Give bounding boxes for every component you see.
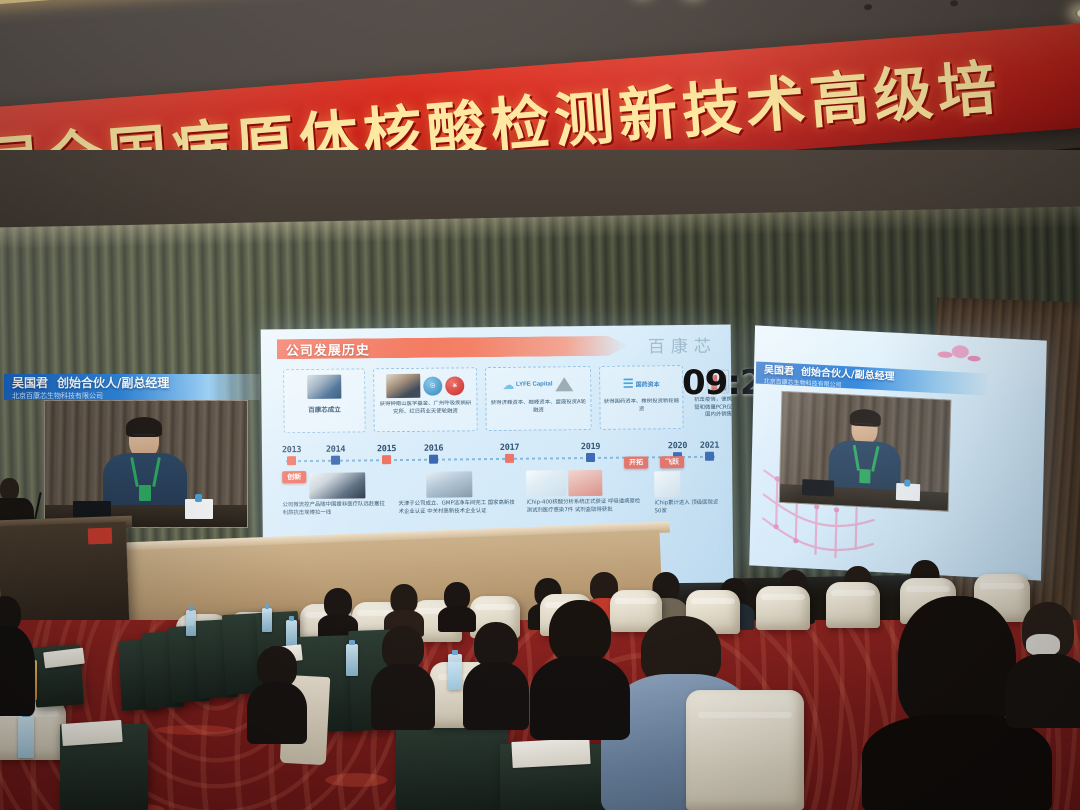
card-icons: ☰国药资本 (623, 370, 660, 396)
audience-member (0, 596, 28, 716)
timeline-marker (586, 453, 595, 462)
list-item: ☰国药资本 获得国药资本、橡树投资新轮融资 (599, 365, 684, 430)
person-head (549, 600, 611, 664)
person-head (898, 596, 1016, 728)
card-label: 百康芯成立 (308, 404, 341, 414)
cartridge-photo-icon (568, 470, 602, 496)
guoyao-capital-logo-icon: ☰国药资本 (623, 376, 660, 390)
person-shoulders (530, 656, 630, 740)
presenter-video-feed (44, 400, 248, 528)
presenter-video-feed-side (779, 391, 952, 512)
handout-paper (61, 720, 122, 746)
timeline-year: 2020 (668, 441, 687, 451)
status-badge: 开拓 (624, 456, 648, 468)
person-shoulders (1006, 654, 1080, 728)
card-text: iChip累计进入 顶级医院近50家 (654, 500, 720, 516)
conference-photo-scene: 七届全国病原体核酸检测新技术高级培 公司发展历史 百康芯 百康芯成立 ☉ (0, 0, 1080, 810)
lyfe-capital-logo-icon: ☁LYFE Capital (503, 378, 553, 392)
device-photo-icon (526, 470, 566, 496)
list-item: 百康芯成立 (283, 368, 366, 433)
audience-member (374, 626, 432, 726)
audience-member (534, 600, 626, 736)
status-badge: 飞跃 (660, 456, 684, 468)
slide-title-bar: 公司发展历史 (277, 336, 629, 360)
timeline-marker (331, 456, 340, 465)
building-photo-icon (426, 471, 472, 497)
hongri-logo-icon: ☀ (445, 376, 464, 395)
lab-photo-icon (307, 375, 341, 399)
face-mask (1026, 634, 1060, 656)
list-item: 天津子公司成立、GMP洁净车间完工 国家高新技术企业认证 中关村高新技术企业认证 (398, 469, 516, 517)
timeline-marker (705, 452, 714, 461)
timeline-marker (382, 455, 391, 464)
card-text: 获得国药资本、橡树投资新轮融资 (603, 398, 679, 414)
audience-member (466, 622, 526, 726)
water-bottle (448, 654, 462, 690)
hand-device-icon (654, 471, 680, 497)
timeline-marker (429, 455, 438, 464)
timeline-year: 2021 (700, 441, 719, 451)
table (396, 718, 508, 810)
audience-member (386, 584, 422, 630)
gloved-hand-photo-icon (309, 472, 365, 499)
presenter-nameplate: 吴国君 创始合伙人/副总经理 北京百康芯生物科技有限公司 (4, 374, 260, 400)
timeline-axis: 2013 2014 2015 2016 2017 2019 (276, 441, 722, 468)
audience-member (320, 588, 356, 632)
side-projection-screen: 吴国君 创始合伙人/副总经理 北京百康芯生物科技有限公司 (749, 325, 1047, 580)
timeline-year: 2015 (377, 444, 396, 454)
person-shoulders (247, 682, 307, 744)
audience-member (1012, 602, 1080, 722)
timeline-year: 2017 (500, 443, 519, 453)
portrait-photo-icon (386, 374, 420, 398)
list-item: ☉ ☀ 获得钟南山医学基金、广州呼吸疾病研究所、红日药业天使轮融资 (373, 367, 478, 432)
podium-sign (88, 528, 113, 545)
status-badge: 创新 (282, 471, 306, 483)
audience-member (440, 582, 474, 626)
card-text: iChip-400核酸分析系统正式获证 呼吸道病原检测试剂医疗感染7件 试剂盒取… (526, 498, 644, 515)
slide-title: 公司发展历史 (286, 339, 370, 359)
water-bottle (18, 716, 34, 758)
list-item: 开拓 iChip-400核酸分析系统正式获证 呼吸道病原检测试剂医疗感染7件 试… (526, 467, 644, 515)
water-bottle (346, 644, 358, 676)
water-bottle (186, 610, 196, 636)
timeline-year: 2019 (581, 442, 600, 452)
person-shoulders (371, 664, 435, 730)
timeline-marker (287, 456, 296, 465)
chair (686, 690, 804, 810)
ksvc-logo-icon (555, 377, 573, 391)
water-bottle (262, 608, 272, 632)
card-icons: ☉ ☀ (386, 372, 464, 399)
timeline-year: 2016 (424, 444, 443, 454)
card-text: 获得济峰资本、融峰资本、盟晟投资A轮融资 (489, 399, 587, 415)
presenter-name: 吴国君 (12, 374, 48, 391)
audience-member (250, 646, 304, 742)
slide-brand-mark: 百康芯 (648, 332, 717, 358)
institute-logo-icon: ☉ (423, 376, 442, 395)
timeline-top-cards: 百康芯成立 ☉ ☀ 获得钟南山医学基金、广州呼吸疾病研究所、红日药业天使轮融资 … (283, 365, 714, 437)
chair (756, 586, 810, 630)
presenter-title: 创始合伙人/副总经理 (57, 374, 169, 391)
presenter-name: 吴国君 (764, 361, 794, 378)
list-item: 创新 公司微流控产品随中国援非医疗队远赴塞拉利昂抗击埃博拉一线 (282, 470, 388, 518)
card-text: 天津子公司成立、GMP洁净车间完工 国家高新技术企业认证 中关村高新技术企业认证 (398, 500, 516, 517)
presenter-organization: 北京百康芯生物科技有限公司 (12, 391, 260, 401)
timeline-year: 2013 (282, 445, 301, 455)
handout-paper (511, 738, 590, 768)
card-icons: ☁LYFE Capital (503, 371, 574, 398)
person-shoulders (862, 714, 1052, 810)
card-text: 获得钟南山医学基金、广州呼吸疾病研究所、红日药业天使轮融资 (377, 400, 473, 416)
card-icons (307, 374, 341, 400)
timeline-year: 2014 (326, 445, 345, 455)
list-item: ☁LYFE Capital 获得济峰资本、融峰资本、盟晟投资A轮融资 (485, 366, 592, 431)
person-shoulders (463, 662, 529, 730)
timeline-marker (505, 454, 514, 463)
card-text: 公司微流控产品随中国援非医疗队远赴塞拉利昂抗击埃博拉一线 (282, 501, 388, 518)
list-item: 飞跃 iChip累计进入 顶级医院近50家 (654, 467, 721, 516)
